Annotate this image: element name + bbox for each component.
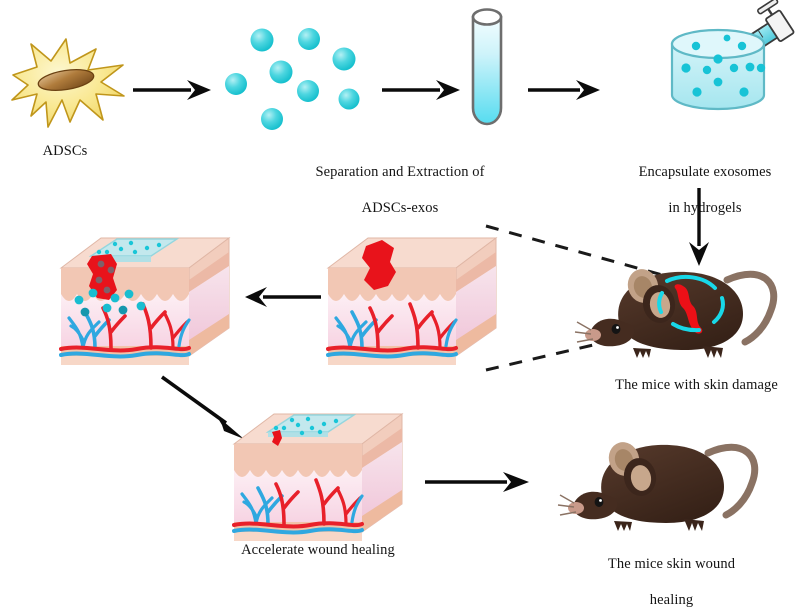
- mice-healing-label-line1: The mice skin wound: [608, 556, 735, 572]
- skin-block-treated: [55, 228, 235, 373]
- test-tube: [465, 5, 509, 129]
- skin-block-wounded: [322, 228, 502, 373]
- separation-label-line1: Separation and Extraction of: [315, 164, 484, 180]
- encapsulate-label-line1: Encapsulate exosomes: [639, 164, 772, 180]
- mouse-eye: [612, 324, 621, 334]
- arrow-adscs-to-exosomes: [133, 78, 211, 102]
- exosome-cluster: [222, 22, 372, 137]
- tube-rim: [473, 10, 501, 25]
- separation-label: Separation and Extraction of ADSCs-exos: [290, 145, 510, 218]
- adscs-cell: [4, 30, 134, 140]
- mice-damage-label: The mice with skin damage: [590, 376, 803, 394]
- separation-label-line2: ADSCs-exos: [362, 200, 439, 216]
- mouse-eye: [595, 497, 604, 507]
- exosome-dots: [225, 28, 360, 130]
- adscs-label: ADSCs: [0, 142, 130, 160]
- mice-healing-label-line2: healing: [650, 592, 693, 608]
- arrow-tube-to-beaker: [528, 78, 600, 102]
- arrow-healing-to-mouse: [425, 470, 529, 494]
- mouse-damaged: [575, 250, 790, 375]
- figure-canvas: ADSCs: [0, 0, 803, 579]
- hydrogel-beaker: [630, 2, 800, 137]
- mouse-healed: [558, 425, 773, 545]
- tube-body: [473, 17, 501, 124]
- skin-block-healing: [228, 404, 408, 549]
- mice-healing-label: The mice skin wound healing: [540, 537, 803, 610]
- arrow-exosomes-to-tube: [382, 78, 460, 102]
- skin-epidermis-front: [61, 268, 189, 282]
- arrow-wounded-to-treated: [245, 285, 321, 309]
- accelerate-label: Accelerate wound healing: [208, 541, 428, 559]
